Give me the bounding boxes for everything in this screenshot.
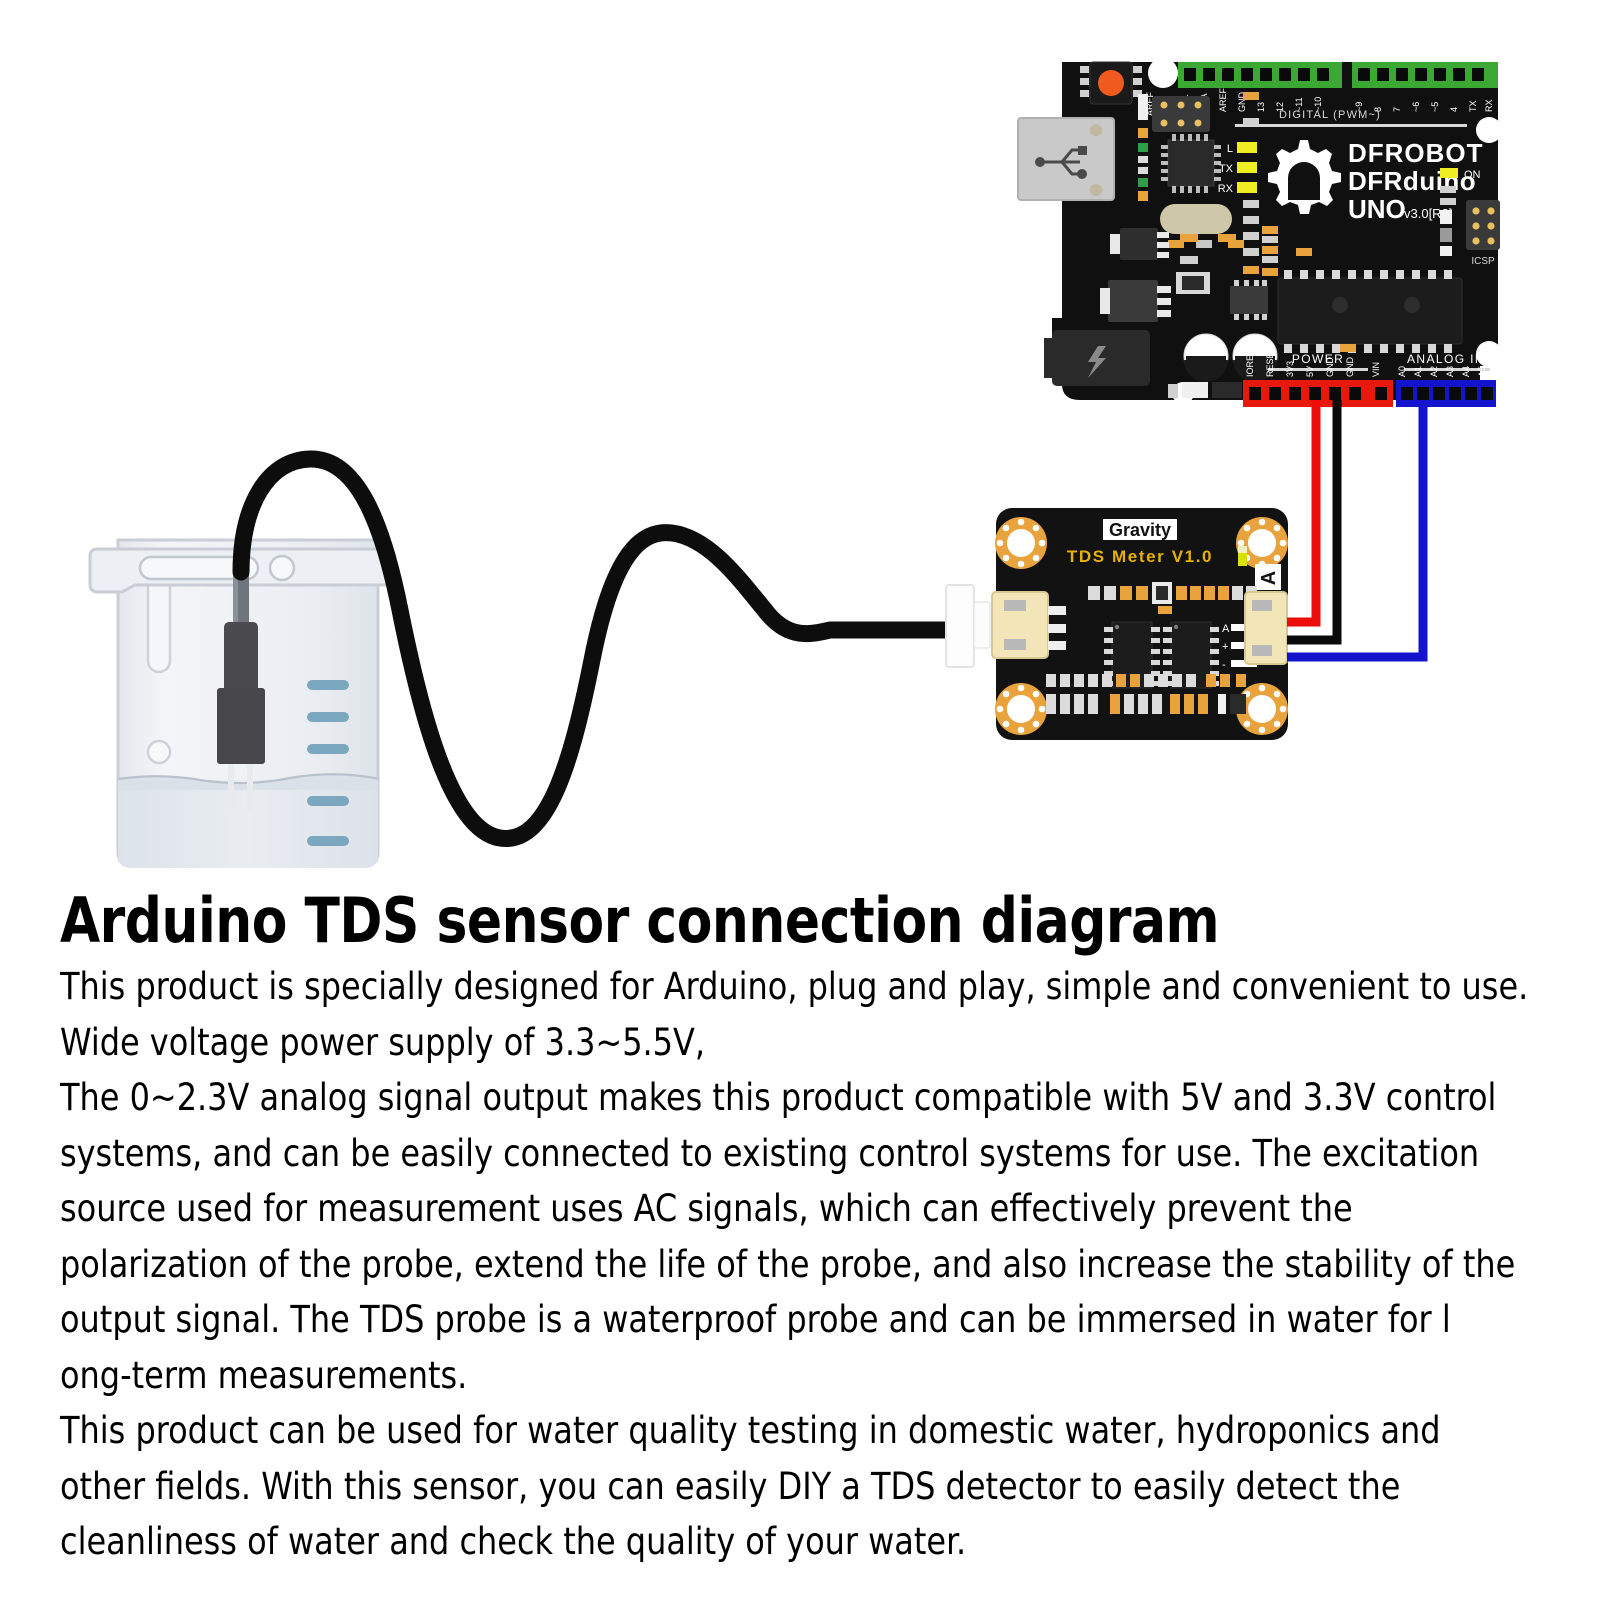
svg-text:RX: RX [1484, 99, 1494, 112]
left-led-strip [1138, 94, 1148, 201]
soic-chip [1230, 280, 1268, 320]
led-label-tx: TX [1219, 163, 1234, 175]
svg-text:AREF: AREF [1218, 87, 1228, 112]
analog-badge: A [1255, 564, 1281, 590]
paragraph-1-line-1: This product is specially designed for A… [60, 959, 1519, 1015]
svg-text:A1: A1 [1413, 366, 1423, 377]
digital-header-right[interactable] [1178, 62, 1342, 88]
paragraph-2-line-3: source used for measurement uses AC sign… [60, 1181, 1519, 1237]
svg-text:4: 4 [1449, 107, 1459, 112]
wire-5v [1287, 400, 1316, 622]
paragraph-2-line-6: ong-term measurements. [60, 1348, 1519, 1404]
led-label-rx: RX [1218, 183, 1234, 195]
svg-text:A: A [1258, 571, 1280, 585]
page-root: Gravity TDS Meter V1.0 A [0, 0, 1600, 1600]
tds-brand-label: Gravity [1109, 520, 1171, 540]
usb-connector [1018, 118, 1114, 200]
analog-header[interactable] [1396, 380, 1496, 407]
paragraph-3: This product can be used for water quali… [60, 1403, 1519, 1570]
dfrobot-dfrduino-uno-board: SCL SDA AREF GND 13 12 ~11 ~10 ~9 8 7 ~6… [1018, 58, 1502, 407]
brand-line-1: DFROBOT [1348, 138, 1484, 168]
paragraph-2: The 0~2.3V analog signal output makes th… [60, 1070, 1519, 1403]
svg-text:A2: A2 [1429, 366, 1439, 377]
atmega-dip-chip [1278, 270, 1462, 353]
paragraph-2-line-1: The 0~2.3V analog signal output makes th… [60, 1070, 1519, 1126]
svg-text:A0: A0 [1397, 366, 1407, 377]
power-header-label: POWER [1292, 352, 1344, 366]
page-title: Arduino TDS sensor connection diagram [60, 888, 1492, 953]
svg-text:+: + [1222, 641, 1228, 653]
paragraph-2-line-5: output signal. The TDS probe is a waterp… [60, 1292, 1519, 1348]
paragraph-2-line-2: systems, and can be easily connected to … [60, 1126, 1519, 1182]
tds-model-label: TDS Meter V1.0 [1067, 547, 1213, 566]
gravity-tds-meter-board: Gravity TDS Meter V1.0 A [992, 508, 1288, 740]
usb-serial-chip [1161, 134, 1221, 193]
paragraph-3-line-3: cleanliness of water and check the quali… [60, 1514, 1519, 1570]
paragraph-3-line-2: other fields. With this sensor, you can … [60, 1459, 1519, 1515]
svg-text:A3: A3 [1445, 366, 1455, 377]
power-led-label: ON [1464, 169, 1481, 181]
cable-connector [946, 585, 990, 667]
svg-text:A4: A4 [1461, 366, 1471, 377]
svg-text:GND: GND [1345, 357, 1355, 378]
svg-text:VIN: VIN [1371, 362, 1381, 377]
icsp-label: ICSP [1471, 256, 1495, 267]
digital-header-label: DIGITAL (PWM~) [1279, 109, 1381, 121]
connection-diagram: Gravity TDS Meter V1.0 A [0, 0, 1600, 890]
digital-header-left[interactable] [1352, 62, 1498, 88]
description-block: Arduino TDS sensor connection diagram Th… [0, 888, 1600, 1570]
brand-line-3: UNO [1348, 194, 1406, 224]
paragraph-2-line-4: polarization of the probe, extend the li… [60, 1237, 1519, 1293]
svg-text:GND: GND [1325, 357, 1335, 378]
paragraph-1: This product is specially designed for A… [60, 959, 1519, 1070]
svg-text:-: - [1222, 659, 1226, 671]
led-label-l: L [1227, 143, 1233, 155]
power-jack[interactable] [1044, 330, 1150, 386]
svg-text:TX: TX [1468, 100, 1478, 112]
svg-text:A: A [1222, 623, 1230, 635]
svg-text:~5: ~5 [1430, 102, 1440, 112]
svg-text:IOREF: IOREF [1245, 349, 1255, 377]
analog-header-label: ANALOG IN [1407, 352, 1485, 366]
svg-text:13: 13 [1256, 102, 1266, 112]
svg-text:RESET: RESET [1265, 346, 1275, 377]
paragraph-1-line-2: Wide voltage power supply of 3.3~5.5V, [60, 1015, 1519, 1071]
svg-text:3V3: 3V3 [1285, 361, 1295, 377]
svg-text:5V: 5V [1305, 366, 1315, 377]
signal-connector-socket [1245, 592, 1287, 664]
paragraph-3-line-1: This product can be used for water quali… [60, 1403, 1519, 1459]
svg-text:A5: A5 [1477, 366, 1487, 377]
svg-text:7: 7 [1392, 107, 1402, 112]
aux-header [1152, 96, 1210, 132]
svg-text:~6: ~6 [1411, 102, 1421, 112]
